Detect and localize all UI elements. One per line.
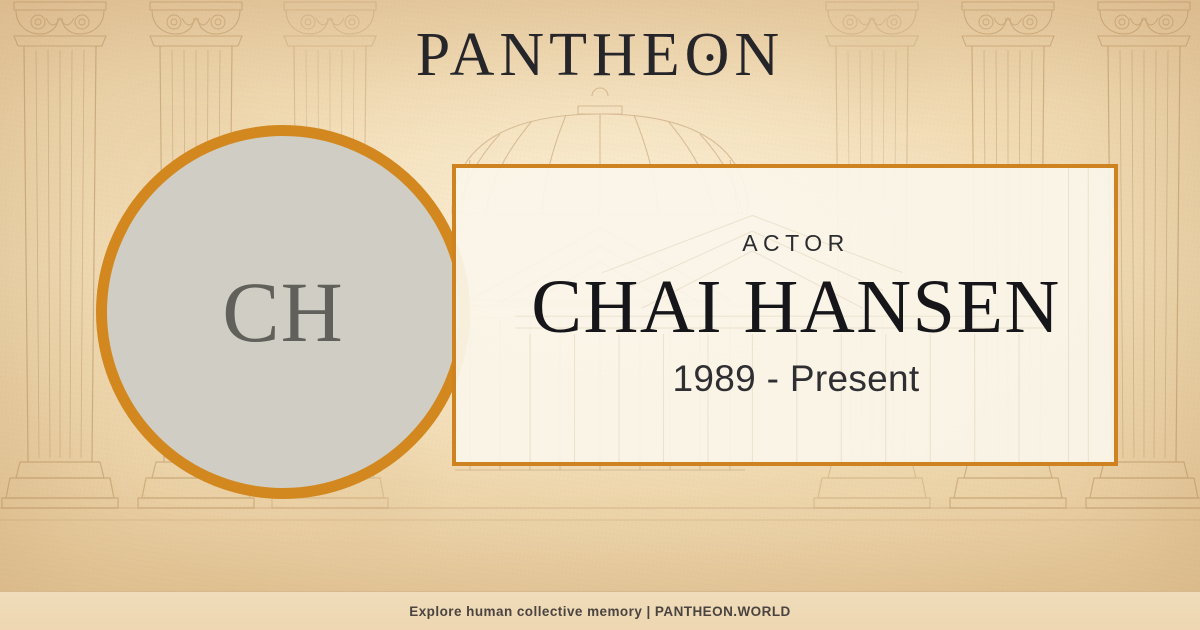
footer-bar: Explore human collective memory | PANTHE… <box>0 591 1200 630</box>
dot-icon <box>706 54 713 61</box>
brand-title-part2: N <box>734 21 784 89</box>
card-content: ACTOR CHAI HANSEN 1989 - Present <box>456 230 1114 401</box>
person-name: CHAI HANSEN <box>478 269 1114 347</box>
brand-title-part1: PANTHE <box>416 21 685 89</box>
footer-text: Explore human collective memory | PANTHE… <box>409 604 790 619</box>
life-years: 1989 - Present <box>478 358 1114 400</box>
avatar: CH <box>96 125 470 499</box>
brand-title-o: O <box>685 24 735 86</box>
occupation-label: ACTOR <box>478 230 1114 257</box>
pantheon-social-card: PANTHEON CH ACTOR CHAI HANSEN 1989 - Pre… <box>0 0 1200 630</box>
brand-wordmark: PANTHEON <box>0 24 1200 86</box>
person-info-card: ACTOR CHAI HANSEN 1989 - Present <box>452 164 1118 466</box>
avatar-initials: CH <box>222 269 343 355</box>
brand-title: PANTHEON <box>416 24 784 86</box>
